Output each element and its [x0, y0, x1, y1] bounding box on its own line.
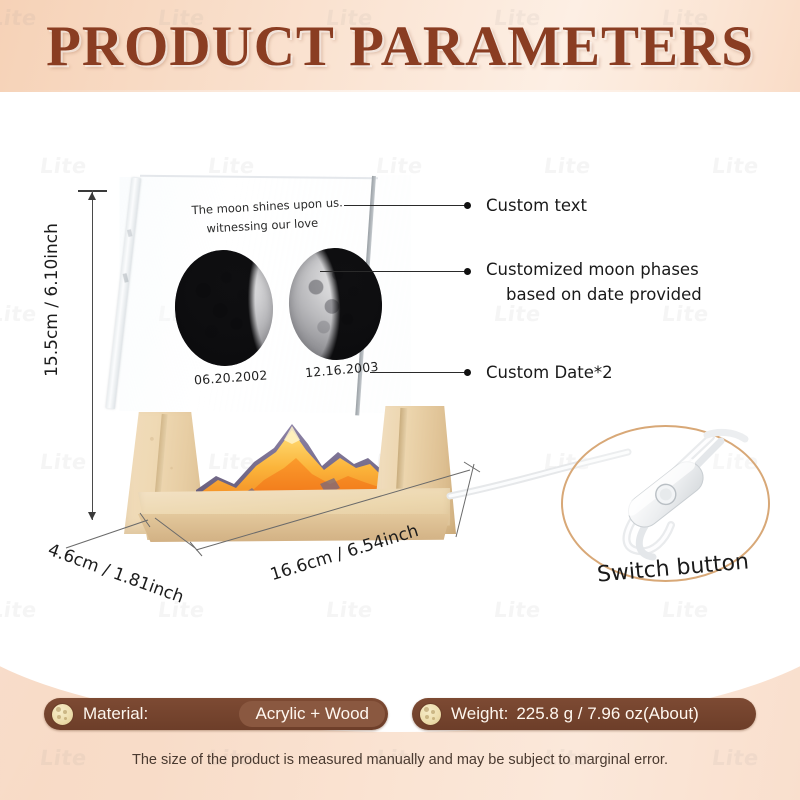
material-key: Material:: [83, 704, 148, 724]
spec-pill-weight: Weight: 225.8 g / 7.96 oz(About): [412, 698, 756, 730]
spec-pill-material: Material: Acrylic + Wood: [44, 698, 388, 730]
callout-3-dot: [464, 369, 471, 376]
callout-3-leader: [370, 372, 466, 373]
callout-3-text: Custom Date*2: [486, 360, 613, 385]
callout-1-leader: [344, 205, 466, 206]
moon-icon: [51, 703, 74, 726]
material-value: Acrylic + Wood: [255, 704, 369, 724]
callout-2-leader: [320, 271, 466, 272]
product-parameters-infographic: LiteLiteLiteLiteLiteLiteLiteLiteLiteLite…: [0, 0, 800, 800]
base-dimension-lines: [0, 0, 800, 800]
callout-2-text: Customized moon phases based on date pro…: [486, 257, 702, 307]
callout-2-line-1: Customized moon phases: [486, 260, 699, 279]
measurement-disclaimer: The size of the product is measured manu…: [0, 752, 800, 768]
callout-1-text: Custom text: [486, 193, 587, 218]
moon-icon: [419, 703, 442, 726]
weight-value: 225.8 g / 7.96 oz(About): [516, 704, 698, 724]
callout-2-dot: [464, 268, 471, 275]
weight-key: Weight:: [451, 704, 508, 724]
callout-2-line-2: based on date provided: [506, 282, 702, 307]
callout-1-dot: [464, 202, 471, 209]
material-value-chip: Acrylic + Wood: [239, 701, 385, 727]
